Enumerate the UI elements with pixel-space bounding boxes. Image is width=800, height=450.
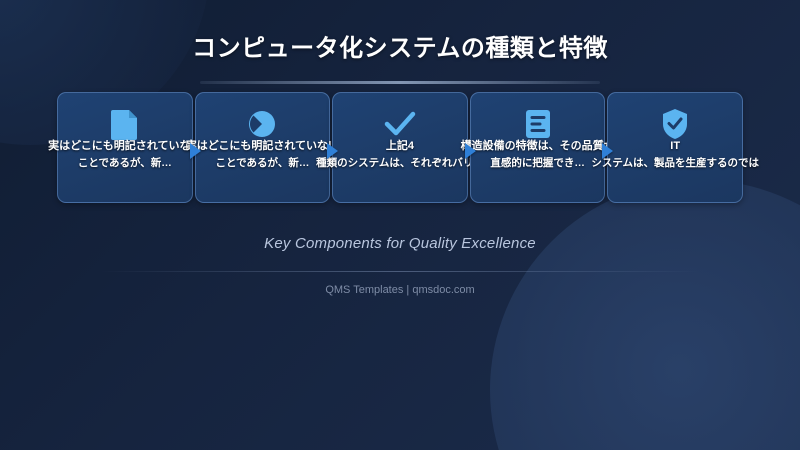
arrow-connector-2: [327, 143, 338, 159]
arrow-connector-3: [465, 143, 476, 159]
process-card-5-description: システムは、製品を生産するのでは: [565, 156, 785, 170]
document-icon: [108, 107, 142, 141]
pie-chart-icon: [245, 107, 279, 141]
process-card-5-text: IT システムは、製品を生産するのでは: [565, 140, 785, 170]
check-icon: [383, 107, 417, 141]
slide-header: コンピュータ化システムの種類と特徴: [0, 0, 800, 84]
title-divider: [200, 81, 600, 84]
process-card-5-title: IT: [565, 140, 785, 154]
slide-canvas: コンピュータ化システムの種類と特徴 実はどこにも明記されていない ことであるが、…: [0, 0, 800, 450]
process-card-5[interactable]: IT システムは、製品を生産するのでは: [607, 92, 743, 203]
slide-footer: QMS Templates | qmsdoc.com: [0, 284, 800, 296]
document-lines-icon: [521, 107, 555, 141]
arrow-connector-1: [190, 143, 201, 159]
shield-check-icon: [658, 107, 692, 141]
arrow-connector-4: [602, 143, 613, 159]
footer-divider: [100, 271, 700, 272]
process-card-row: 実はどこにも明記されていない ことであるが、新… 実はどこにも明記されていない …: [57, 92, 743, 203]
slide-subtitle: Key Components for Quality Excellence: [0, 235, 800, 252]
background-circle-bottom-right: [490, 180, 800, 450]
page-title: コンピュータ化システムの種類と特徴: [0, 28, 800, 63]
